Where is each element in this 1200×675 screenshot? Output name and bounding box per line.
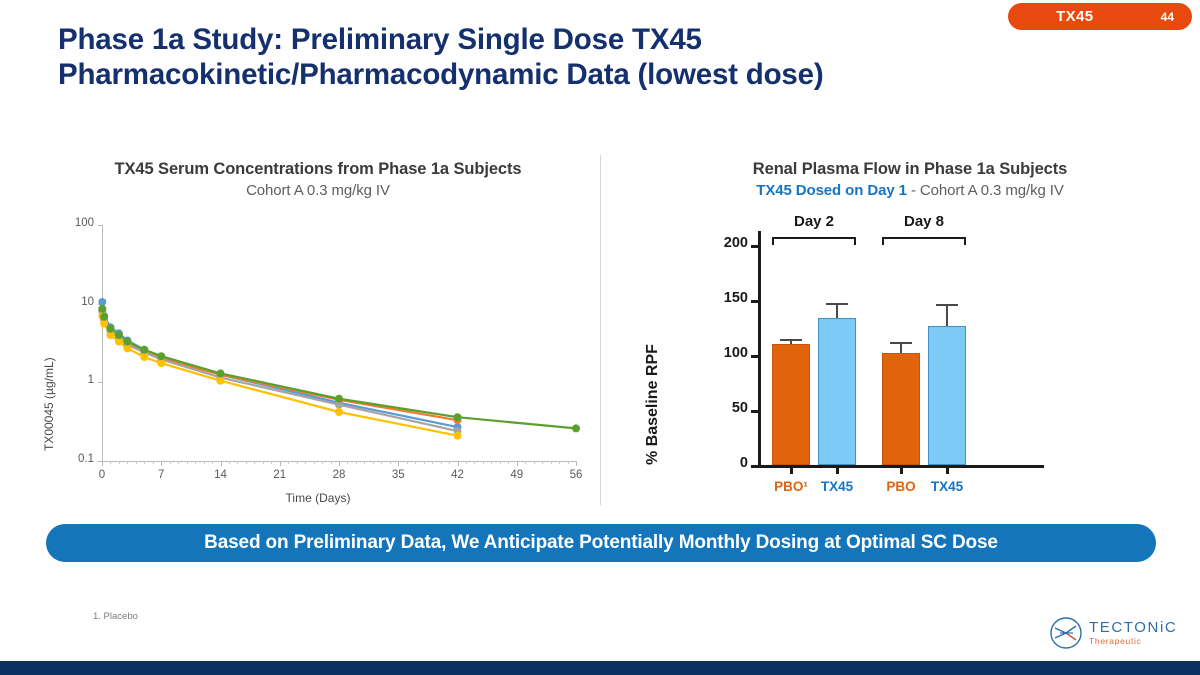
rpf-y-tick: [751, 410, 758, 413]
logo-tagline: Therapeutic: [1089, 637, 1177, 646]
pk-data-point: [157, 359, 165, 367]
pk-data-point: [98, 305, 106, 313]
footer-bar: [0, 661, 1200, 675]
tectonic-mark-icon: [1049, 616, 1083, 650]
panel-divider: [600, 155, 601, 505]
rpf-bar: [928, 326, 966, 465]
rpf-group-label: Day 8: [862, 213, 986, 230]
rpf-chart-title: Renal Plasma Flow in Phase 1a Subjects: [640, 160, 1180, 179]
rpf-error-cap: [936, 304, 958, 306]
conclusion-banner-text: Based on Preliminary Data, We Anticipate…: [204, 532, 998, 554]
rpf-error-cap: [780, 339, 802, 341]
rpf-y-axis: [758, 231, 761, 465]
badge-page-number: 44: [1161, 10, 1174, 24]
pk-data-point: [157, 352, 165, 360]
rpf-y-tick: [751, 355, 758, 358]
rpf-error-bar: [836, 303, 838, 317]
rpf-group-bracket: [882, 237, 966, 245]
rpf-subtitle-highlight: TX45 Dosed on Day 1: [756, 182, 907, 199]
slide: TX45 44 Phase 1a Study: Preliminary Sing…: [0, 0, 1200, 675]
pk-data-point: [217, 377, 225, 385]
rpf-error-cap: [890, 342, 912, 344]
pk-data-point: [335, 395, 343, 403]
pk-panel: TX45 Serum Concentrations from Phase 1a …: [36, 160, 600, 513]
logo-name: TECTONiC: [1089, 620, 1177, 635]
rpf-y-tick: [751, 300, 758, 303]
badge-product-label: TX45: [1056, 8, 1093, 25]
rpf-chart: 050100150200% Baseline RPFPBO¹TX45PBOTX4…: [640, 215, 1180, 525]
conclusion-banner: Based on Preliminary Data, We Anticipate…: [46, 524, 1156, 562]
rpf-group-label: Day 2: [752, 213, 876, 230]
pk-data-point: [454, 432, 462, 440]
pk-series-line: [102, 316, 457, 436]
pk-data-point: [107, 325, 115, 333]
rpf-group-bracket: [772, 237, 856, 245]
pk-data-point: [123, 344, 131, 352]
rpf-subtitle-rest: - Cohort A 0.3 mg/kg IV: [907, 182, 1064, 199]
pk-data-point: [98, 298, 106, 306]
pk-chart: 0.11101000714212835424956TX00045 (µg/mL)…: [36, 213, 600, 513]
rpf-y-tick: [751, 245, 758, 248]
rpf-y-axis-title: % Baseline RPF: [644, 344, 662, 465]
rpf-x-tick: [790, 467, 793, 474]
pk-data-point: [100, 313, 108, 321]
rpf-x-tick: [836, 467, 839, 474]
rpf-y-tick-label: 100: [714, 345, 748, 361]
rpf-y-tick-label: 0: [714, 455, 748, 471]
rpf-error-bar: [946, 304, 948, 326]
rpf-bar: [772, 344, 810, 465]
rpf-bar: [818, 318, 856, 465]
pk-chart-title: TX45 Serum Concentrations from Phase 1a …: [36, 160, 600, 179]
rpf-y-tick-label: 200: [714, 235, 748, 251]
pk-chart-subtitle: Cohort A 0.3 mg/kg IV: [36, 182, 600, 199]
rpf-x-tick: [946, 467, 949, 474]
pk-data-point: [140, 346, 148, 354]
rpf-category-label: TX45: [805, 479, 869, 494]
pk-data-point: [572, 424, 580, 432]
pk-data-point: [123, 338, 131, 346]
pk-series-line: [102, 310, 457, 420]
company-logo: TECTONiC Therapeutic: [1049, 616, 1177, 650]
rpf-error-cap: [826, 303, 848, 305]
rpf-bar: [882, 353, 920, 465]
pk-series-line: [102, 311, 457, 431]
pk-data-point: [217, 369, 225, 377]
rpf-y-tick-label: 50: [714, 400, 748, 416]
pk-data-point: [335, 408, 343, 416]
rpf-y-tick: [751, 465, 758, 468]
footnote: 1. Placebo: [93, 611, 138, 622]
rpf-category-label: TX45: [915, 479, 979, 494]
pk-series-layer: [36, 213, 600, 513]
pk-data-point: [454, 413, 462, 421]
rpf-panel: Renal Plasma Flow in Phase 1a Subjects T…: [640, 160, 1180, 525]
pk-data-point: [140, 353, 148, 361]
rpf-y-tick-label: 150: [714, 290, 748, 306]
page-title: Phase 1a Study: Preliminary Single Dose …: [58, 22, 1058, 92]
rpf-chart-subtitle: TX45 Dosed on Day 1 - Cohort A 0.3 mg/kg…: [640, 182, 1180, 199]
rpf-x-tick: [900, 467, 903, 474]
pk-data-point: [115, 331, 123, 339]
